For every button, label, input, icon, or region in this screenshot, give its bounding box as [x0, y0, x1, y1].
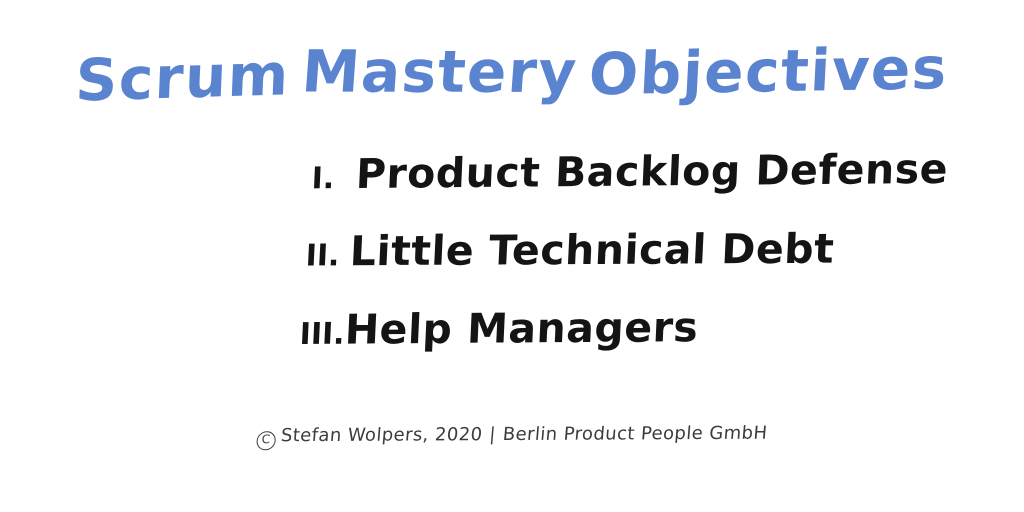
slide-canvas: ScrumMasteryObjectives I. Product Backlo… [0, 0, 1024, 512]
list-item-marker: I. [311, 164, 356, 194]
list-item-label: Product Backlog Defense [355, 149, 949, 195]
list-item-marker: III. [299, 320, 345, 350]
page-title: ScrumMasteryObjectives [0, 39, 1024, 108]
list-item: II. Little Technical Debt [305, 229, 861, 273]
copyright-icon: C [256, 431, 277, 450]
objectives-list: I. Product Backlog Defense II. Little Te… [300, 152, 860, 386]
list-item: III. Help Managers [299, 306, 861, 351]
list-item-label: Little Technical Debt [349, 229, 835, 273]
footer-author: Stefan Wolpers, 2020 [280, 424, 483, 446]
list-item-label: Help Managers [344, 307, 699, 350]
copyright-footer: CStefan Wolpers, 2020|Berlin Product Peo… [0, 421, 1024, 451]
list-item-marker: II. [305, 241, 350, 271]
footer-company: Berlin Product People GmbH [502, 423, 768, 445]
title-word-2: Mastery [300, 43, 579, 101]
list-item: I. Product Backlog Defense [311, 150, 861, 196]
footer-separator: | [489, 424, 497, 445]
title-word-1: Scrum [74, 45, 291, 109]
title-word-3: Objectives [588, 39, 950, 103]
